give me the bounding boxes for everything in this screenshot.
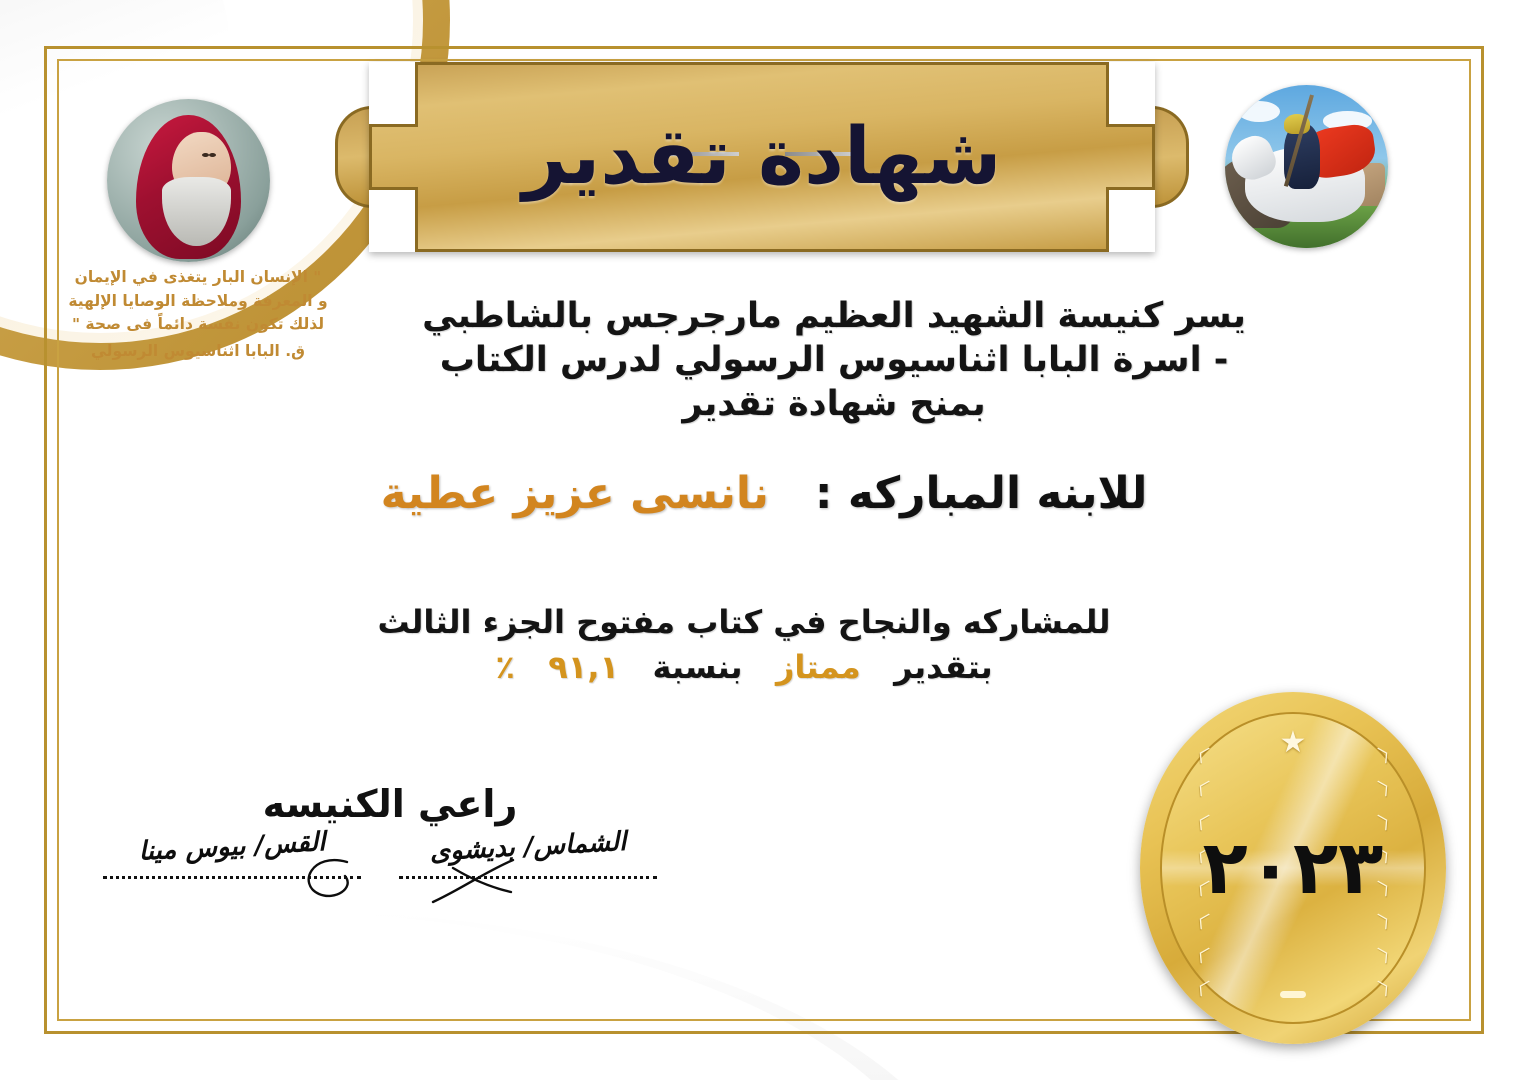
cloud-icon-left [1238, 101, 1280, 122]
saint-eye-right [209, 153, 216, 157]
signature-dotted-line-1 [103, 876, 361, 879]
saint-george-icon [1225, 85, 1388, 248]
signature-block-pastor: القس/ بيوس مينا [97, 836, 367, 898]
award-grade: ممتاز [776, 648, 861, 686]
award-percent: ٩١,١ [548, 648, 619, 686]
certificate-title: شهادة تقدير [369, 62, 1155, 252]
percent-symbol: ٪ [495, 648, 515, 686]
recipient-label: للابنه المباركه : [815, 468, 1148, 519]
year-seal-medal: ★ 〉〉〉〉〉〉〉〉 〉〉〉〉〉〉〉〉 ٢٠٢٣ [1140, 692, 1446, 1044]
recipient-row: للابنه المباركه : نانسى عزيز عطية [190, 468, 1338, 521]
signature-title: راعي الكنيسه [180, 782, 600, 826]
body-line-3: بمنح شهادة تقدير [330, 382, 1338, 426]
signature-block-deacon: الشماس/ بديشوى [393, 836, 663, 898]
award-middle: بنسبة [652, 648, 742, 686]
body-line-2: - اسرة البابا اثناسيوس الرسولي لدرس الكت… [330, 338, 1338, 382]
award-line-1: للمشاركه والنجاح في كتاب مفتوح الجزء الث… [190, 600, 1298, 645]
body-line-1: يسر كنيسة الشهيد العظيم مارجرجس بالشاطبي [330, 294, 1338, 338]
certificate-body: يسر كنيسة الشهيد العظيم مارجرجس بالشاطبي… [330, 294, 1338, 426]
recipient-name: نانسى عزيز عطية [381, 468, 769, 519]
title-plaque: شهادة تقدير [369, 62, 1155, 252]
signature-dotted-line-2 [399, 876, 657, 879]
seal-year: ٢٠٢٣ [1140, 692, 1446, 1044]
award-prefix: بتقدير [894, 648, 993, 686]
quote-line-2: و المعرفة وملاحظة الوصايا الإلهية [64, 290, 332, 314]
quote-line-1: " الإنسان البار يتغذى في الإيمان [64, 266, 332, 290]
award-details: للمشاركه والنجاح في كتاب مفتوح الجزء الث… [190, 600, 1298, 691]
award-line-2: بتقدير ممتاز بنسبة ٩١,١ ٪ [190, 645, 1298, 690]
quote-line-3: لذلك تكون نفسة دائماً فى صحة " [64, 313, 332, 337]
certificate-page: شهادة تقدير " الإنسان البار يتغذى في الإ… [0, 0, 1528, 1080]
saint-quote-block: " الإنسان البار يتغذى في الإيمان و المعر… [64, 266, 332, 363]
saint-eye-left [202, 153, 209, 157]
quote-author: ق. البابا اثناسيوس الرسولي [64, 340, 332, 364]
saint-portrait-icon [107, 99, 270, 262]
signature-row: القس/ بيوس مينا الشماس/ بديشوى [70, 836, 690, 898]
